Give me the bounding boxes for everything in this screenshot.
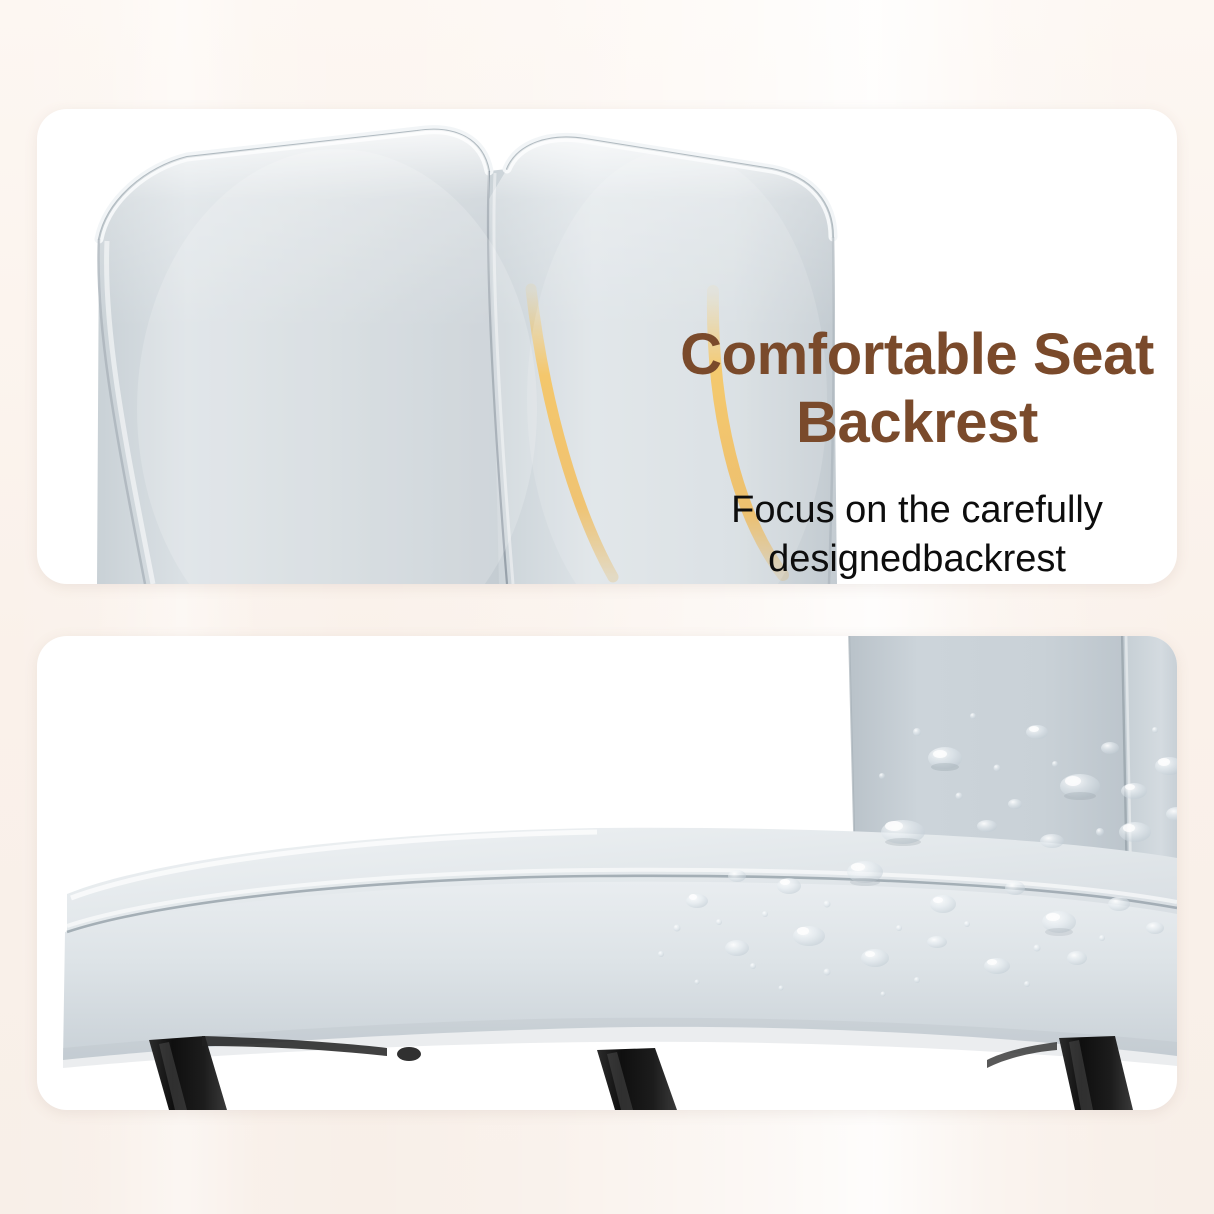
chair-seat-waterdrop-image (37, 636, 1177, 1110)
backrest-text-block: Comfortable Seat Backrest Focus on the c… (637, 321, 1177, 584)
product-feature-infographic: Comfortable Seat Backrest Focus on the c… (0, 0, 1214, 1214)
feature-card-backrest: Comfortable Seat Backrest Focus on the c… (37, 109, 1177, 584)
feature-card-easy-clean: Easy to Clean Dining Chairs Curved desig… (37, 636, 1177, 1110)
backrest-subheadline: Focus on the carefully designedbackrest (637, 486, 1177, 584)
backrest-headline: Comfortable Seat Backrest (637, 321, 1177, 458)
